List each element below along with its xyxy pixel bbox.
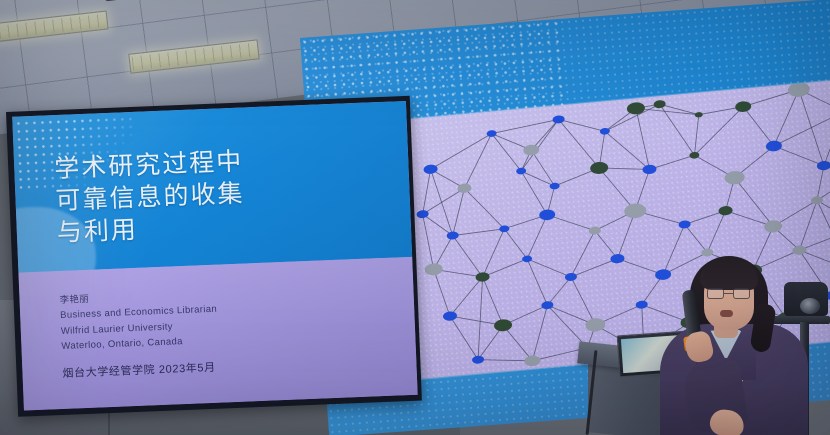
network-edge xyxy=(421,188,467,214)
glasses-icon xyxy=(706,288,752,299)
network-edge xyxy=(527,255,571,281)
network-node xyxy=(642,164,657,174)
glasses-lens-right xyxy=(733,288,750,299)
network-node xyxy=(552,115,565,124)
network-node xyxy=(590,161,609,174)
network-node xyxy=(475,272,490,282)
network-node xyxy=(522,255,533,262)
network-node xyxy=(472,355,485,364)
network-node xyxy=(678,220,691,229)
network-edge xyxy=(570,259,619,277)
network-node xyxy=(523,144,540,156)
network-edge xyxy=(504,227,527,261)
network-node xyxy=(764,220,783,233)
glasses-lens-left xyxy=(707,288,724,299)
network-node xyxy=(765,140,782,152)
network-node xyxy=(718,205,733,215)
presentation-screen: 学术研究过程中 可靠信息的收集 与利用 李艳丽 Business and Eco… xyxy=(6,96,422,417)
network-edge xyxy=(478,355,532,366)
network-node xyxy=(443,311,458,321)
network-node xyxy=(816,160,830,170)
network-edge xyxy=(559,115,605,135)
network-edge xyxy=(795,200,821,250)
slide-presenter-byline: 李艳丽 Business and Economics Librarian Wil… xyxy=(59,287,218,355)
network-edge xyxy=(449,188,469,235)
network-edge xyxy=(527,257,547,306)
presentation-room-photo: 学术研究过程中 可靠信息的收集 与利用 李艳丽 Business and Eco… xyxy=(0,0,830,435)
network-node xyxy=(635,300,648,309)
network-edge xyxy=(453,229,505,236)
network-edge xyxy=(453,233,483,279)
network-edge xyxy=(447,277,486,316)
network-edge xyxy=(491,119,559,133)
network-node xyxy=(653,100,666,109)
network-node xyxy=(695,112,703,118)
network-edge xyxy=(419,169,435,214)
title-slide: 学术研究过程中 可靠信息的收集 与利用 李艳丽 Business and Eco… xyxy=(12,101,417,411)
network-node xyxy=(565,272,578,281)
network-node xyxy=(541,301,554,310)
network-edge xyxy=(464,185,504,232)
network-node xyxy=(624,203,647,219)
mouth xyxy=(720,310,733,317)
network-node xyxy=(735,101,752,113)
network-node xyxy=(494,319,513,332)
network-edge xyxy=(483,276,503,327)
network-node xyxy=(585,317,606,332)
network-node xyxy=(539,209,556,221)
network-node xyxy=(499,225,510,232)
network-edge xyxy=(478,229,508,277)
network-node xyxy=(689,152,700,159)
network-node xyxy=(549,182,560,189)
network-node xyxy=(524,355,541,367)
network-edge xyxy=(527,305,552,361)
network-node xyxy=(787,81,810,97)
network-edge xyxy=(423,214,434,270)
slide-title: 学术研究过程中 可靠信息的收集 与利用 xyxy=(54,146,247,250)
network-edge xyxy=(769,90,804,146)
network-edge xyxy=(545,277,573,305)
network-edge xyxy=(428,134,494,170)
network-edge xyxy=(521,169,547,217)
network-node xyxy=(424,263,443,276)
network-edge xyxy=(735,175,774,230)
network-edge xyxy=(605,128,650,174)
speaker xyxy=(650,252,820,435)
network-edge xyxy=(450,314,478,362)
network-edge xyxy=(660,102,695,158)
network-node xyxy=(610,253,625,263)
network-node xyxy=(423,164,438,174)
network-node xyxy=(724,170,745,185)
hair-fringe xyxy=(700,260,758,290)
network-edge xyxy=(636,108,650,170)
network-edge xyxy=(771,112,830,147)
network-node xyxy=(589,226,602,235)
network-edge xyxy=(492,131,522,173)
network-edge xyxy=(567,231,599,277)
network-node xyxy=(516,167,527,174)
network-edge xyxy=(743,104,774,148)
network-edge xyxy=(434,268,450,317)
